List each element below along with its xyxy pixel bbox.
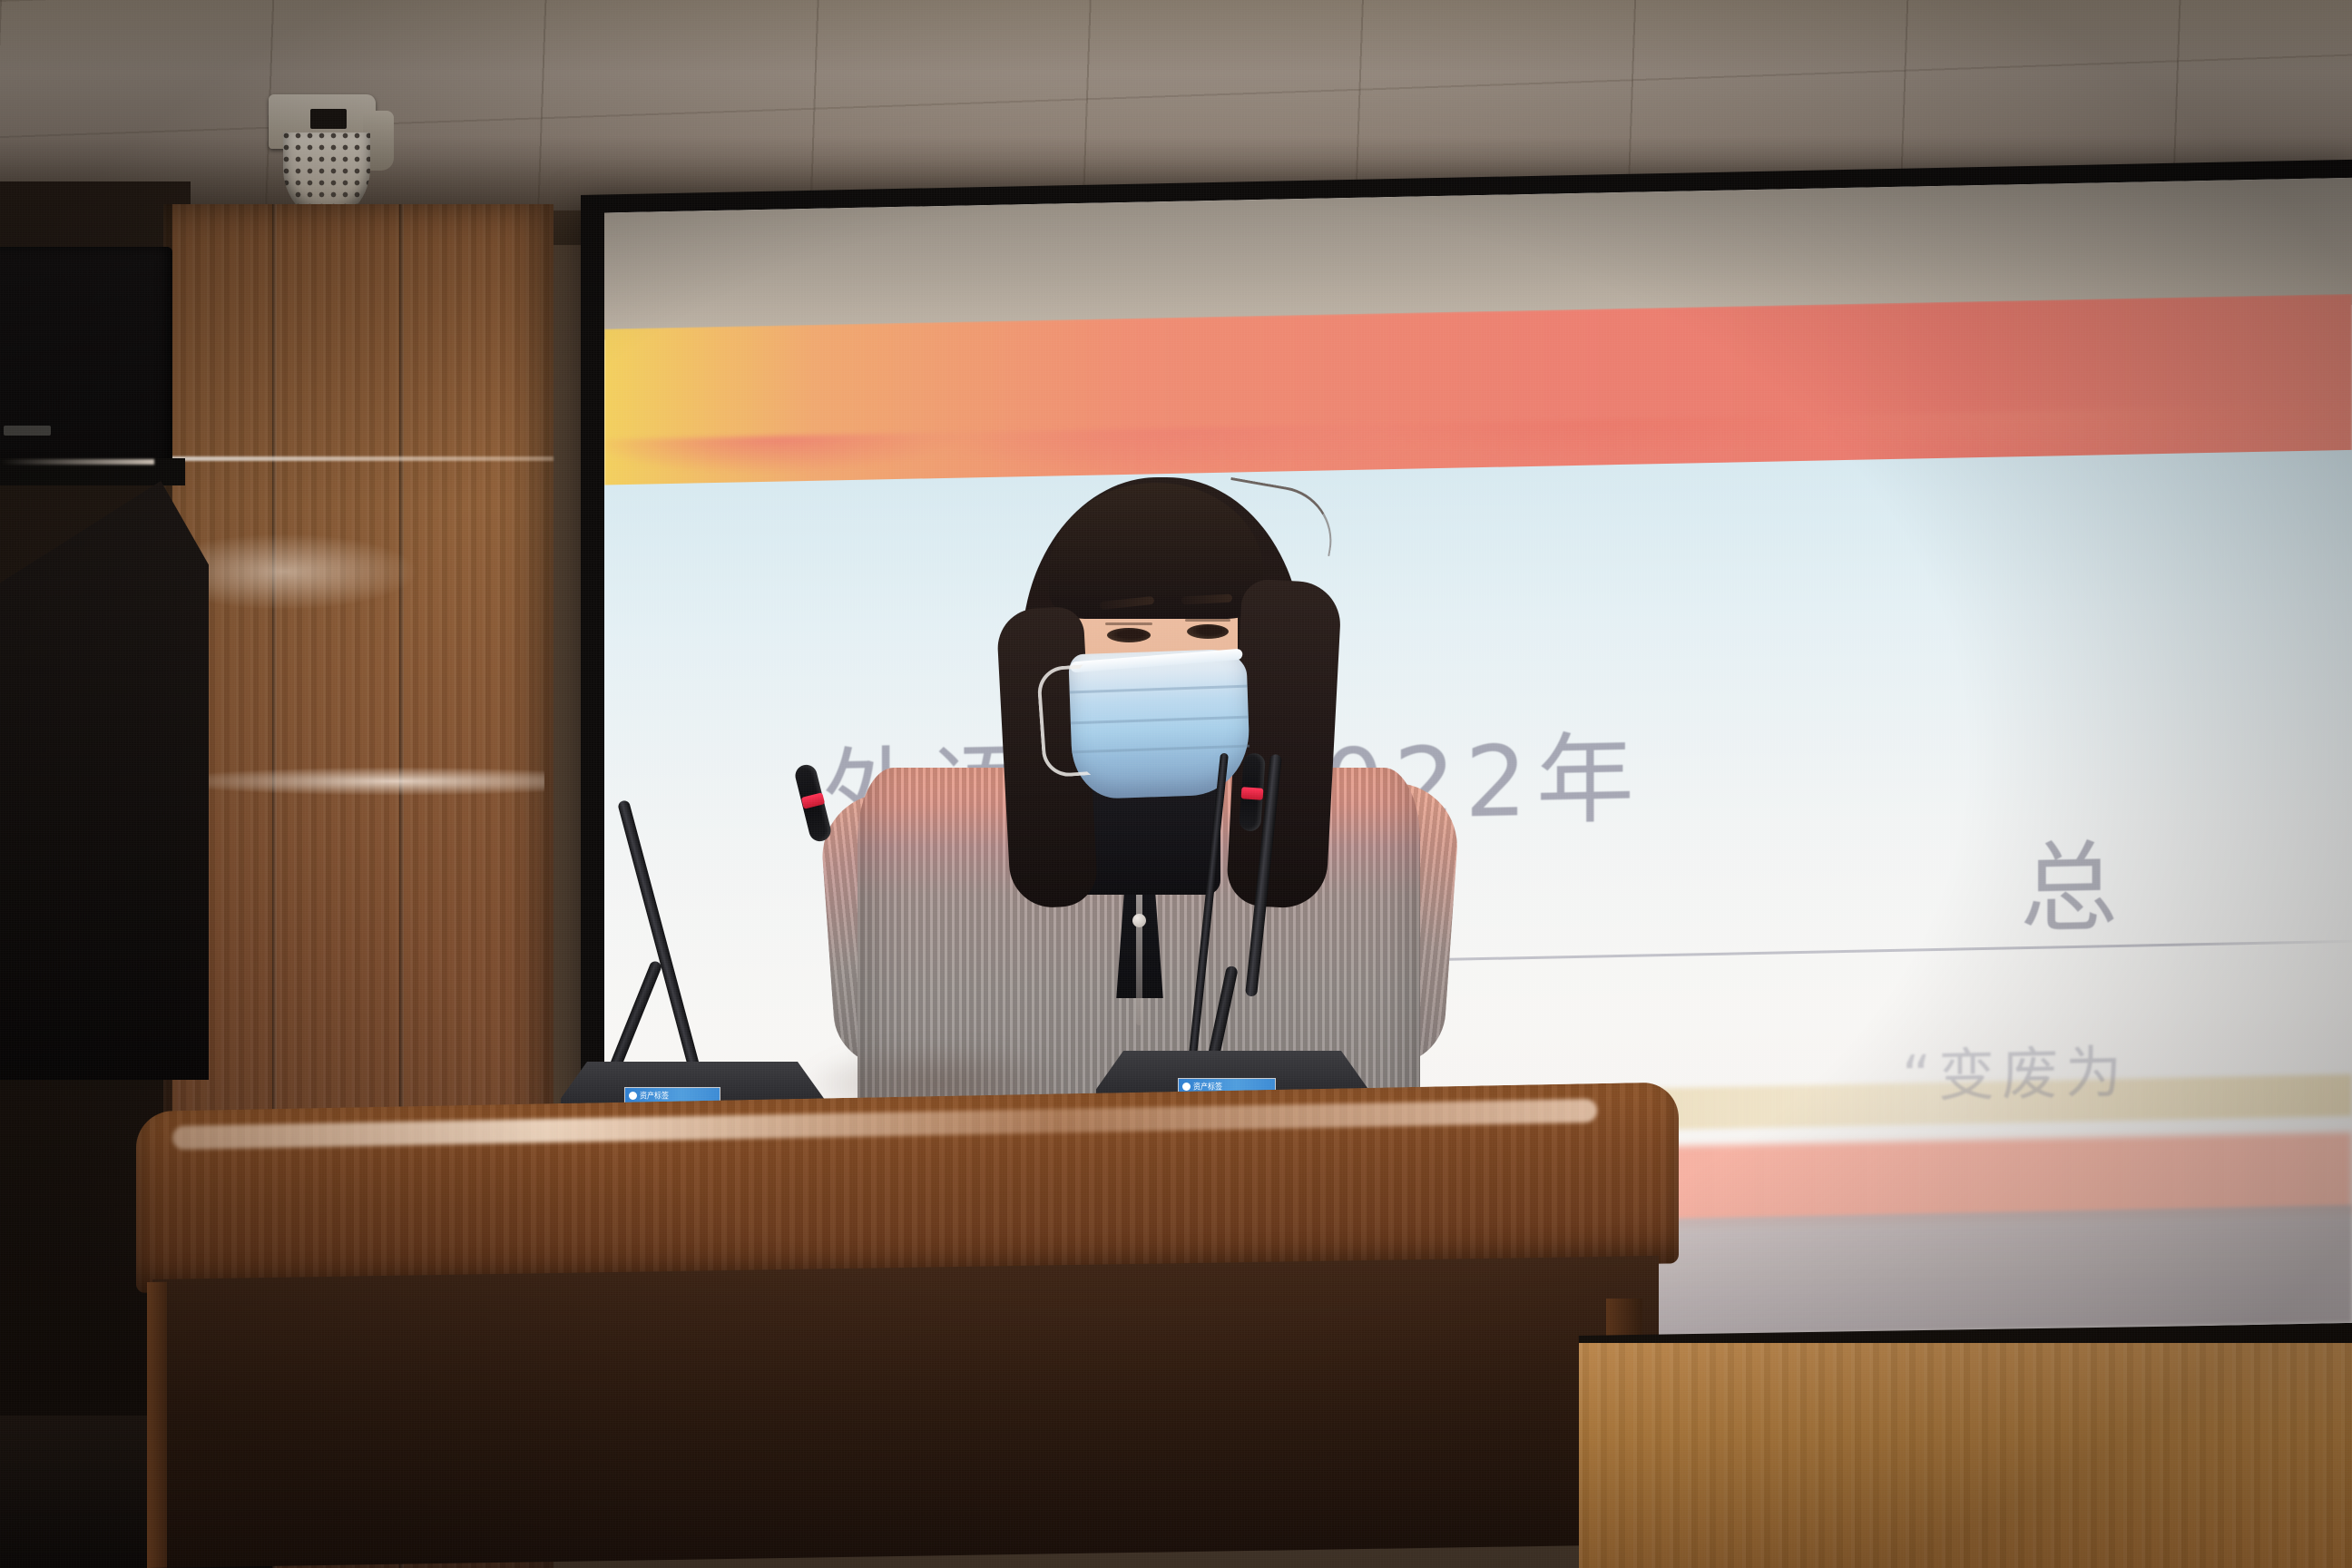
cardigan-zipper-pull: [1132, 914, 1146, 927]
wooden-podium: [136, 1112, 1679, 1568]
device-slot: [310, 109, 347, 129]
speaker-badge: [4, 426, 51, 436]
wall-speaker: [0, 247, 172, 465]
mask-ear-loop: [1036, 664, 1091, 778]
eye-right: [1187, 624, 1229, 639]
slide-title-line2: 总: [2020, 808, 2127, 952]
institution-logo-icon: [1182, 1083, 1191, 1091]
slide-subtitle: “变废为: [1902, 1026, 2129, 1112]
asset-tag-title: 资产标签: [640, 1090, 669, 1102]
speaker-edge-highlight: [0, 459, 154, 465]
podium-left-edge: [147, 1282, 167, 1568]
eye-left: [1107, 628, 1151, 642]
eyelid-left: [1105, 622, 1152, 625]
mask-pleat: [1070, 685, 1248, 693]
dark-lectern-left: [0, 481, 209, 1080]
institution-logo-icon: [629, 1092, 637, 1100]
wall-light-reflection: [163, 456, 554, 461]
eyelid-right: [1185, 619, 1230, 622]
conference-hall-photo: 外语学院2022年 总 “变废为: [0, 0, 2352, 1568]
podium-front-panel: [152, 1256, 1659, 1568]
right-microphone-indicator-ring: [1241, 787, 1264, 800]
wood-wall-right: [1579, 1343, 2352, 1568]
mask-pleat: [1072, 745, 1249, 753]
mask-pleat: [1071, 716, 1249, 724]
